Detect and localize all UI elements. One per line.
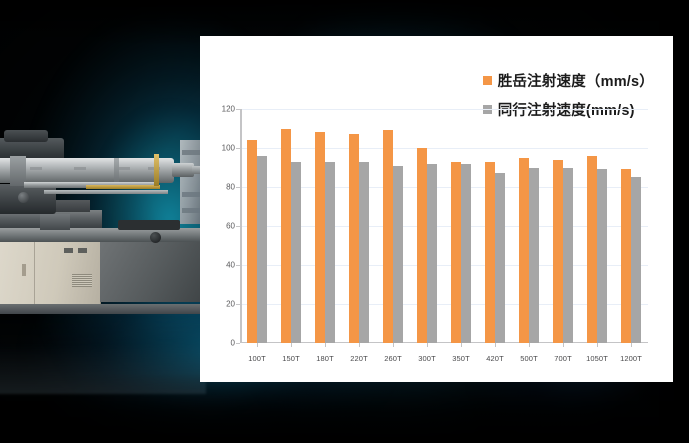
y-axis-tick-label: 120 [222,105,235,114]
y-axis-tick-label: 20 [226,300,235,309]
machine-base [0,304,206,314]
y-axis-tick [236,343,240,344]
bar-peer[interactable] [427,164,437,343]
machine-knob [150,232,161,243]
x-axis-tick-label: 700T [546,354,580,363]
x-axis-tick-label: 500T [512,354,546,363]
machine-tray [118,220,180,230]
machine-tie-rod-lower [44,190,168,194]
bar-group[interactable] [512,109,546,343]
bar-shengyue[interactable] [451,162,461,343]
bar-group[interactable] [342,109,376,343]
bar-group[interactable] [546,109,580,343]
bar-peer[interactable] [291,162,301,343]
machine-safety-guard [100,242,206,302]
machine-cabinet-handle [22,264,26,276]
bar-peer[interactable] [631,177,641,343]
bar-shengyue[interactable] [349,134,359,343]
legend-swatch-square-orange [483,76,492,85]
x-axis-tick-label: 180T [308,354,342,363]
x-axis-tick-label: 220T [342,354,376,363]
y-axis-tick-label: 80 [226,183,235,192]
bar-shengyue[interactable] [417,148,427,343]
bar-group[interactable] [274,109,308,343]
bar-group[interactable] [308,109,342,343]
bar-shengyue[interactable] [281,129,291,344]
x-axis-tick-label: 350T [444,354,478,363]
bar-peer[interactable] [597,169,607,343]
bar-peer[interactable] [563,168,573,344]
machine-nozzle [172,163,194,177]
x-axis-tick [495,343,496,347]
machine-button-right [78,248,87,253]
bar-peer[interactable] [257,156,267,343]
injection-molding-machine-photo [0,128,206,318]
machine-support-foot [40,214,70,230]
x-axis-tick [359,343,360,347]
bar-shengyue[interactable] [383,130,393,343]
x-axis-tick [461,343,462,347]
bar-peer[interactable] [393,166,403,343]
bar-peer[interactable] [495,173,505,343]
x-axis-tick-label: 100T [240,354,274,363]
machine-floor-reflection [0,314,206,394]
bar-shengyue[interactable] [315,132,325,343]
x-axis-tick [597,343,598,347]
bar-peer[interactable] [529,168,539,344]
bar-groups [240,109,648,343]
machine-brass-line [86,185,160,189]
y-axis-tick-label: 40 [226,261,235,270]
bar-group[interactable] [240,109,274,343]
bar-shengyue[interactable] [519,158,529,343]
bar-group[interactable] [614,109,648,343]
bar-shengyue[interactable] [247,140,257,343]
x-axis-tick [393,343,394,347]
machine-barrel-ring [114,158,119,183]
x-axis-tick [257,343,258,347]
bar-group[interactable] [478,109,512,343]
machine-brass-fitting [154,154,159,186]
machine-drive-block [0,184,56,214]
y-axis-tick-label: 0 [231,339,235,348]
x-axis-tick [325,343,326,347]
x-axis-tick [427,343,428,347]
bar-group[interactable] [376,109,410,343]
bar-peer[interactable] [359,162,369,343]
x-axis-tick-label: 300T [410,354,444,363]
machine-bench [0,228,206,242]
machine-hydraulic-cap [4,130,48,142]
x-axis-tick-label: 150T [274,354,308,363]
bar-peer[interactable] [325,162,335,343]
bar-shengyue[interactable] [587,156,597,343]
bar-shengyue[interactable] [553,160,563,343]
legend-label-shengyue: 胜岳注射速度（mm/s） [498,70,654,91]
x-axis-tick [529,343,530,347]
slide-canvas: 胜岳注射速度（mm/s） 同行注射速度(mm/s) 02040608010012… [0,0,689,443]
bar-shengyue[interactable] [485,162,495,343]
x-axis-tick-label: 1050T [580,354,614,363]
x-axis-tick-label: 420T [478,354,512,363]
machine-button-left [64,248,73,253]
bar-group[interactable] [580,109,614,343]
machine-injection-barrel [0,158,174,183]
x-axis-tick [563,343,564,347]
x-axis-tick [291,343,292,347]
bar-group[interactable] [444,109,478,343]
plot-area: 020406080100120 100T150T180T220T260T300T… [240,109,648,343]
legend-item-shengyue: 胜岳注射速度（mm/s） [483,70,654,91]
x-axis-tick-label: 1200T [614,354,648,363]
x-axis-tick-label: 260T [376,354,410,363]
y-axis-tick-label: 100 [222,144,235,153]
y-axis-tick-label: 60 [226,222,235,231]
bar-peer[interactable] [461,164,471,343]
bar-group[interactable] [410,109,444,343]
machine-cabinet-vent [72,274,92,287]
machine-cabinet-seam [34,242,35,304]
bar-shengyue[interactable] [621,169,631,343]
x-axis-tick [631,343,632,347]
chart-panel: 胜岳注射速度（mm/s） 同行注射速度(mm/s) 02040608010012… [200,36,673,382]
